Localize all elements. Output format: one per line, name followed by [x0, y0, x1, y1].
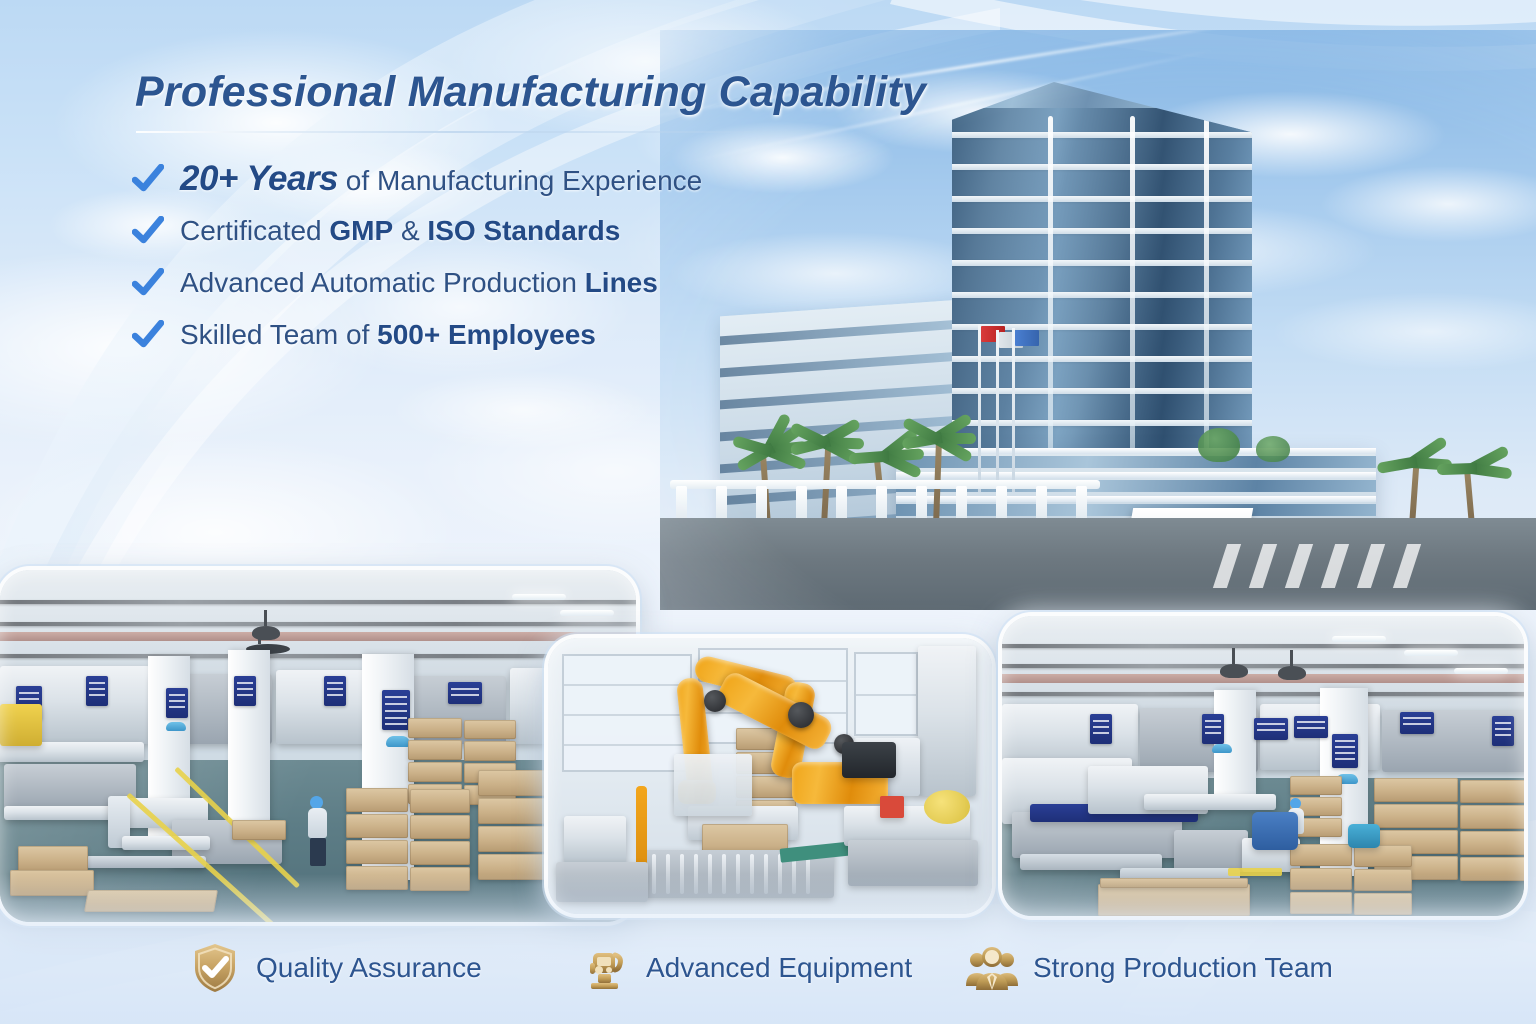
shield-check-icon — [188, 941, 242, 995]
check-icon — [132, 320, 164, 350]
list-item: Advanced Automatic Production Lines — [132, 257, 872, 309]
feature-pre: Advanced Automatic Production — [180, 267, 585, 298]
list-item: Certificated GMP & ISO Standards — [132, 205, 872, 257]
feature-mid: & — [393, 215, 427, 246]
check-icon — [132, 216, 164, 246]
feature-bold: ISO Standards — [427, 215, 620, 246]
feature-bold: Lines — [585, 267, 658, 298]
caption-label: Strong Production Team — [1033, 952, 1333, 984]
caption-quality-assurance: Quality Assurance — [188, 941, 482, 995]
caption-label: Advanced Equipment — [646, 952, 912, 984]
page-title: Professional Manufacturing Capability — [135, 68, 926, 117]
feature-text: Skilled Team of 500+ Employees — [180, 319, 596, 351]
machine-icon — [578, 941, 632, 995]
feature-bold: 500+ Employees — [377, 319, 596, 350]
robotic-palletizer — [544, 634, 996, 918]
title-divider — [136, 131, 836, 133]
feature-text: Advanced Automatic Production Lines — [180, 267, 658, 299]
robot-controller — [842, 742, 896, 778]
feature-text: Certificated GMP & ISO Standards — [180, 215, 620, 247]
caption-row: Quality Assurance — [0, 930, 1536, 1006]
packaging-production-hall — [998, 612, 1528, 920]
caption-strong-production-team: Strong Production Team — [965, 941, 1333, 995]
feature-bold: GMP — [329, 215, 393, 246]
street-foreground — [660, 518, 1536, 610]
check-icon — [132, 268, 164, 298]
list-item: 20+ Years of Manufacturing Experience — [132, 153, 872, 205]
feature-pre: Skilled Team of — [180, 319, 377, 350]
feature-rest: of Manufacturing Experience — [338, 165, 702, 196]
list-item: Skilled Team of 500+ Employees — [132, 309, 872, 361]
team-icon — [965, 941, 1019, 995]
feature-list: 20+ Years of Manufacturing Experience Ce… — [132, 153, 872, 361]
feature-emphasis: 20+ Years — [180, 159, 338, 198]
promo-banner: 天娇 Professional Manufacturing Capa — [0, 0, 1536, 1024]
check-icon — [132, 164, 164, 194]
feature-pre: Certificated — [180, 215, 329, 246]
caption-label: Quality Assurance — [256, 952, 482, 984]
caption-advanced-equipment: Advanced Equipment — [578, 941, 912, 995]
feature-text: 20+ Years of Manufacturing Experience — [180, 159, 702, 199]
